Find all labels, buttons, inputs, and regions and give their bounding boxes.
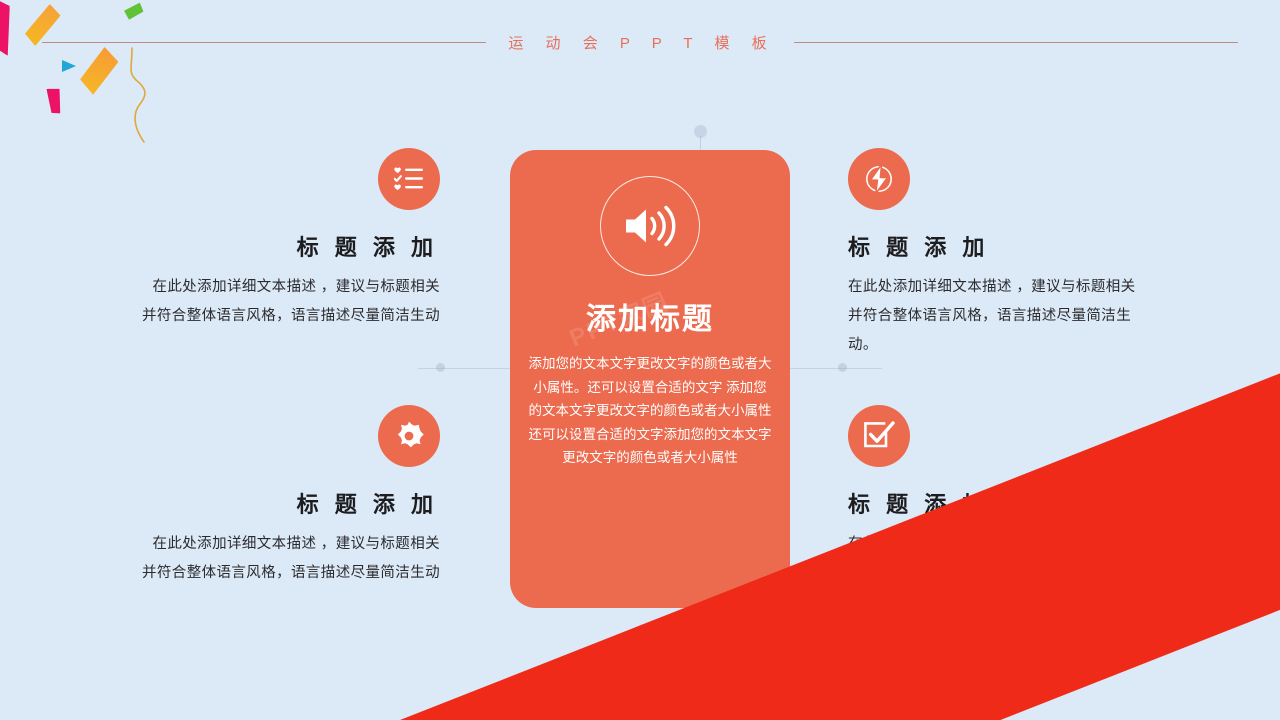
gear-icon [378, 405, 440, 467]
divider-left [418, 368, 514, 369]
feature-block-bottom-left[interactable]: 标 题 添 加 在此处添加详细文本描述 ，建议与标题相关并符合整体语言风格，语言… [140, 405, 440, 588]
green-flake-icon [122, 2, 144, 20]
block-body: 在此处添加详细文本描述 ，建议与标题相关并符合整体语言风格，语言描述尽量简洁生动… [848, 273, 1148, 360]
dot-marker-right [838, 363, 847, 372]
blue-triangle-icon [62, 60, 76, 72]
lightning-bolt-icon [848, 148, 910, 210]
page-title: 运 动 会 P P T 模 板 [504, 32, 775, 53]
header-rule-left [42, 42, 486, 43]
dot-marker-left [436, 363, 445, 372]
check-square-icon [848, 405, 910, 467]
slide-canvas: 运 动 会 P P T 模 板 标 题 添 加 在此处添加详细文本描述 ，建议与… [0, 0, 1280, 720]
center-highlight-card[interactable]: 添加标题 添加您的文本文字更改文字的颜色或者大小属性。还可以设置合适的文字 添加… [510, 150, 790, 608]
gold-squiggle-icon [126, 46, 166, 146]
card-title: 添加标题 [510, 294, 790, 338]
block-body: 在此处添加详细文本描述 ，建议与标题相关并符合整体语言风格，语言描述尽量简洁生动 [140, 273, 440, 331]
header-rule-right [794, 42, 1238, 43]
card-body: 添加您的文本文字更改文字的颜色或者大小属性。还可以设置合适的文字 添加您的文本文… [528, 352, 772, 470]
pin-head-top [694, 125, 707, 138]
pink-flake-icon [46, 87, 62, 114]
block-body: 在此处添加详细文本描述 ，建议与标题相关并符合整体语言风格，语言描述尽量简洁生动 [140, 530, 440, 588]
divider-right [786, 368, 882, 369]
slide-header: 运 动 会 P P T 模 板 [0, 28, 1280, 56]
checklist-icon [378, 148, 440, 210]
speaker-volume-icon [600, 176, 700, 276]
block-title: 标 题 添 加 [140, 487, 440, 519]
block-title: 标 题 添 加 [848, 230, 1148, 262]
feature-block-top-right[interactable]: 标 题 添 加 在此处添加详细文本描述 ，建议与标题相关并符合整体语言风格，语言… [848, 148, 1148, 360]
feature-block-top-left[interactable]: 标 题 添 加 在此处添加详细文本描述 ，建议与标题相关并符合整体语言风格，语言… [140, 148, 440, 331]
block-title: 标 题 添 加 [140, 230, 440, 262]
